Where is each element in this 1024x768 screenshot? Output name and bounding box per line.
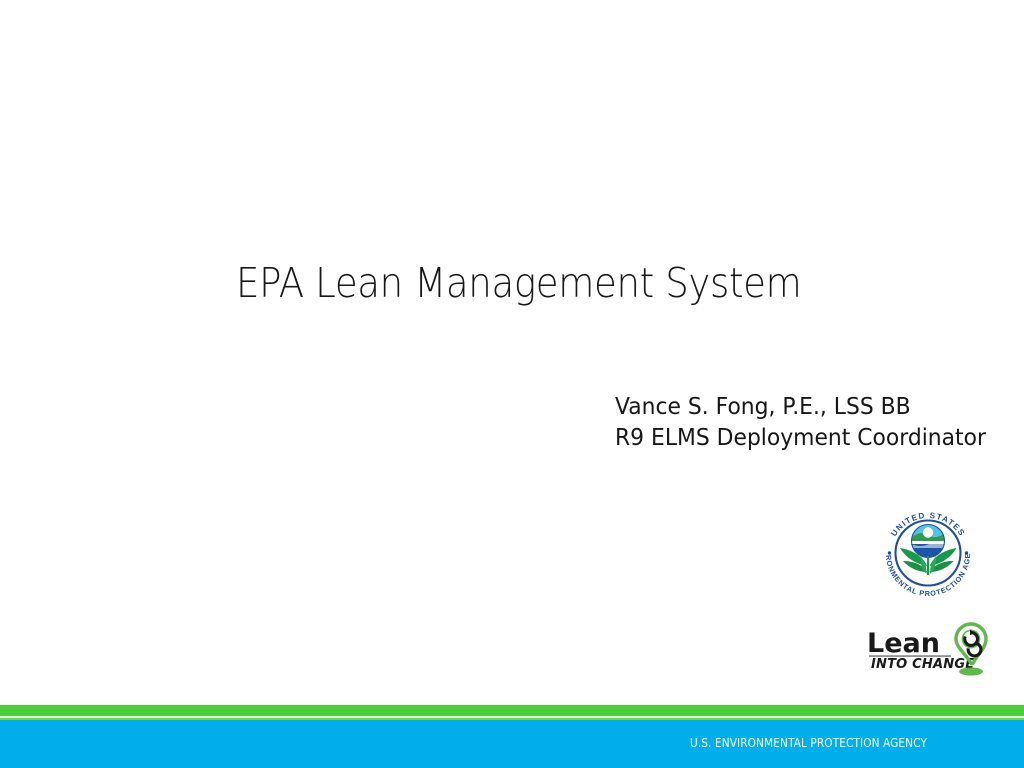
epa-seal-icon: UNITED STATES ENVIRONMENTAL PROTECTION A… <box>876 504 980 602</box>
slide-canvas: EPA Lean Management System Vance S. Fong… <box>0 0 1024 768</box>
presenter-info: Vance S. Fong, P.E., LSS BB R9 ELMS Depl… <box>615 392 986 454</box>
lean-wordmark: Lean <box>867 628 940 659</box>
lean-tagline: INTO CHANGE <box>871 657 974 672</box>
footer-agency-label: U.S. ENVIRONMENTAL PROTECTION AGENCY <box>690 736 927 750</box>
lean-into-change-logo: Lean INTO CHANGE <box>866 622 994 678</box>
page-title: EPA Lean Management System <box>236 259 801 307</box>
green-accent-bar <box>0 705 1024 716</box>
presenter-role: R9 ELMS Deployment Coordinator <box>615 423 986 454</box>
presenter-name: Vance S. Fong, P.E., LSS BB <box>615 392 986 423</box>
